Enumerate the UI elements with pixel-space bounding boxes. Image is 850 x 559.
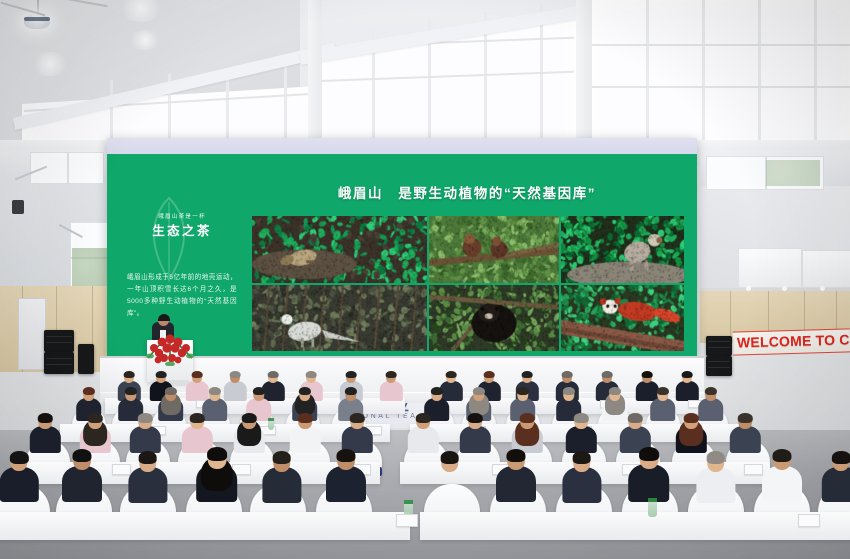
welcome-banner: WELCOME TO CITTE (733, 328, 850, 355)
pa-speaker-stack-left (44, 352, 74, 374)
audience-torso (380, 381, 402, 401)
audience-member (262, 452, 301, 507)
audience-member (650, 388, 676, 424)
audience-member (676, 372, 698, 403)
monkeys-photo (429, 216, 559, 283)
audience-hair (138, 413, 153, 423)
white-pheasant-photo (252, 285, 427, 352)
audience-hair (431, 387, 443, 395)
window-foliage (766, 160, 820, 186)
audience-hair (446, 371, 457, 378)
audience-hair (517, 387, 529, 395)
audience-hair (298, 413, 313, 423)
welcome-banner-text: WELCOME TO CITTE (737, 331, 850, 351)
audience-torso (496, 466, 536, 502)
audience-member (460, 414, 490, 457)
audience-torso (762, 466, 802, 502)
audience-member (408, 414, 438, 457)
screen-top-bezel (107, 138, 697, 154)
booth-board (738, 248, 802, 288)
booth-spotlight-icon (746, 286, 751, 291)
audience-member (158, 388, 184, 424)
pa-speaker-stack-left (44, 330, 74, 352)
audience-torso (262, 467, 301, 502)
wall-bracket-icon (12, 200, 24, 214)
slide-sidebar-kicker: 峨眉山茶是一杯 (129, 212, 235, 220)
audience-hair (230, 371, 241, 378)
audience-hair (345, 387, 357, 395)
audience-torso (562, 467, 601, 502)
audience-torso (430, 467, 469, 502)
audience-member (822, 452, 850, 506)
audience-hair (738, 413, 753, 423)
clerestory-window-band (0, 0, 850, 152)
audience-hair (192, 371, 203, 378)
audience-torso (730, 426, 760, 453)
audience-hair (684, 413, 699, 423)
audience-hair (125, 387, 137, 395)
audience-torso (62, 466, 102, 502)
conference-hall-photo: WELCOME TO CITTE 峨眉山 是野生动植物的“天然基因库” 峨眉山茶… (0, 0, 850, 559)
audience-hair (209, 387, 221, 395)
audience-member (676, 414, 706, 457)
audience-hair (10, 451, 28, 464)
audience-hair (562, 371, 573, 378)
audience-torso (566, 426, 596, 453)
audience-torso (128, 467, 167, 502)
pa-speaker-stack-right (706, 336, 732, 356)
pa-speaker-stack-right (706, 356, 732, 376)
red-panda-photo (561, 285, 684, 352)
booth-spotlight-icon (782, 286, 787, 291)
audience-hair (440, 451, 459, 464)
audience-hair (468, 413, 483, 423)
audience-torso (130, 426, 160, 453)
audience-member (62, 450, 102, 506)
audience-hair (72, 449, 91, 462)
audience-hair (628, 413, 643, 423)
audience-hair (772, 449, 791, 462)
slide-sidebar-body: 峨眉山形成于5亿年前的地壳运动，一年山顶积雪长达6个月之久，是5000多种野生动… (127, 272, 237, 320)
audience-hair (563, 387, 575, 395)
banquet-table (0, 512, 410, 540)
audience-hair (306, 371, 317, 378)
flower-arrangement (144, 332, 196, 366)
audience-torso (460, 426, 490, 453)
audience-hair (253, 387, 265, 395)
ceiling-light-glow (30, 52, 70, 76)
tea-leaf-watermark-icon (143, 196, 195, 282)
booth-spotlight-icon (820, 286, 825, 291)
audience-hair (473, 387, 485, 395)
lamp-ring (24, 17, 50, 21)
audience-hair (705, 387, 717, 395)
audience-member (430, 452, 469, 507)
audience-torso (30, 426, 60, 453)
audience-hair (609, 387, 621, 395)
audience-hair (156, 371, 167, 378)
audience-hair (242, 413, 257, 423)
audience-hair (520, 413, 535, 423)
audience-hair (272, 451, 291, 464)
audience-hair (572, 451, 591, 464)
slide-title: 峨眉山 是野生动植物的“天然基因库” (257, 182, 677, 202)
audience-torso (676, 381, 698, 401)
pa-speaker-stack-left (78, 344, 94, 374)
audience-torso (326, 466, 366, 502)
audience-member (562, 452, 601, 507)
audience-torso (0, 467, 38, 502)
audience-hair (416, 413, 431, 423)
led-presentation-screen[interactable]: 峨眉山 是野生动植物的“天然基因库” 峨眉山茶是一杯 生态之茶 峨眉山形成于5亿… (107, 138, 697, 358)
audience-hair (165, 387, 177, 395)
audience-hair (574, 413, 589, 423)
audience-hair (336, 449, 355, 462)
audience-member (496, 450, 536, 506)
audience-member (196, 448, 238, 506)
audience-hair (642, 371, 653, 378)
audience-torso (822, 467, 850, 502)
audience-member (0, 452, 38, 506)
macaque-photo (561, 216, 684, 283)
ceiling-light-glow (128, 30, 162, 50)
water-bottle (648, 498, 657, 517)
audience-hair (299, 387, 311, 395)
audience-member (762, 450, 802, 506)
audience-member (290, 414, 320, 457)
water-bottle (268, 418, 274, 430)
banquet-table (420, 512, 850, 540)
audience-member (30, 414, 60, 457)
speaker-hair (158, 314, 170, 321)
audience-hair (506, 449, 525, 462)
audience-torso (628, 464, 670, 501)
audience-torso (290, 426, 320, 453)
slide-sidebar-heading: 生态之茶 (129, 220, 235, 239)
place-name-card (744, 464, 763, 475)
audience-torso (696, 467, 735, 502)
audience-hair (657, 387, 669, 395)
frog-photo (252, 216, 427, 283)
audience-hair (138, 451, 157, 464)
audience-hair (350, 413, 365, 423)
side-door (18, 298, 46, 370)
black-bear-photo (429, 285, 559, 352)
audience-hair (639, 447, 659, 461)
audience-member (234, 414, 264, 457)
audience-hair (38, 413, 53, 423)
audience-hair (832, 451, 850, 464)
audience-hair (484, 371, 495, 378)
audience-hair (83, 387, 95, 395)
audience-hair (386, 371, 397, 378)
audience-member (696, 452, 735, 507)
audience-torso (408, 426, 438, 453)
audience-hair (190, 413, 205, 423)
audience-hair (602, 371, 613, 378)
audience-hair (682, 371, 693, 378)
audience-hair (346, 371, 357, 378)
audience-hair (88, 413, 103, 423)
audience-member (730, 414, 760, 457)
audience-member (326, 450, 366, 506)
audience-torso (650, 398, 676, 421)
audience-hair (522, 371, 533, 378)
place-name-card (798, 514, 820, 527)
audience-hair (268, 371, 279, 378)
audience-member (380, 372, 402, 403)
booth-board (802, 250, 850, 288)
audience-member (128, 452, 167, 507)
audience-hair (124, 371, 135, 378)
audience-hair (706, 451, 725, 464)
place-name-card (396, 514, 418, 527)
audience-hair (207, 447, 227, 461)
slide-photo-grid (252, 216, 684, 351)
slide-canvas: 峨眉山 是野生动植物的“天然基因库” 峨眉山茶是一杯 生态之茶 峨眉山形成于5亿… (107, 154, 697, 358)
